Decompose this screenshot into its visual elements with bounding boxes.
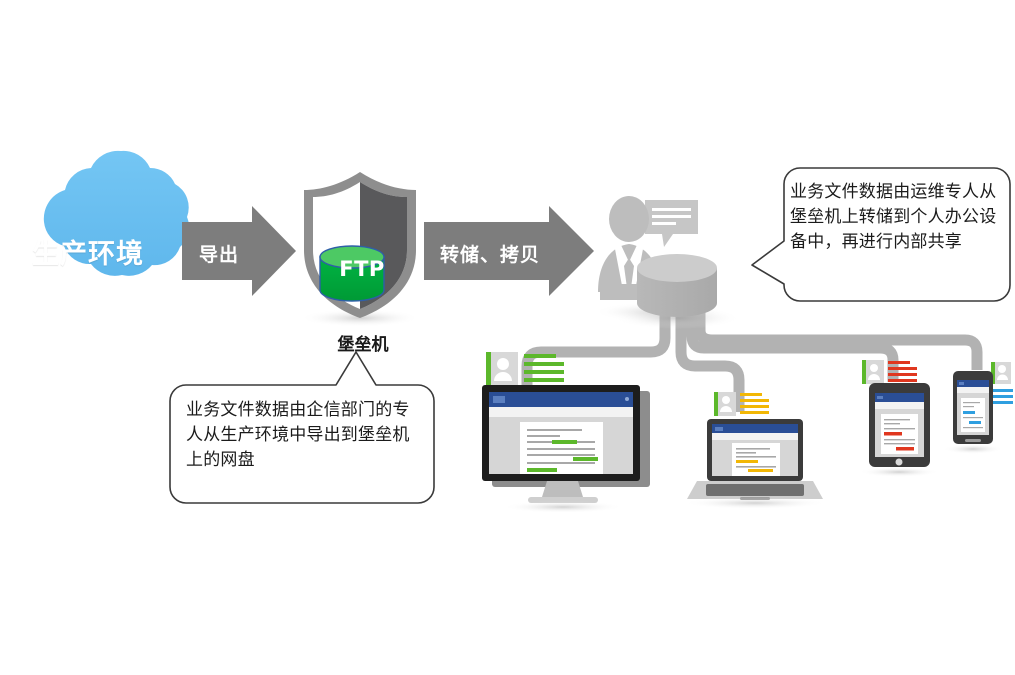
- callout-right-text: 业务文件数据由运维专人从堡垒机上转储到个人办公设备中，再进行内部共享: [790, 180, 1002, 255]
- diagram-graphics: [0, 0, 1015, 675]
- cloud-label: 生产环境: [8, 232, 168, 271]
- bastion-caption: 堡垒机: [293, 330, 433, 355]
- tablet: [859, 360, 939, 477]
- diagram-canvas: 生产环境 导出 转储、拷贝 FTP 堡垒机 业务文件数据由企信部门的专人从生产环…: [0, 0, 1015, 675]
- arrow-transfer-copy-label: 转储、拷贝: [440, 240, 540, 267]
- callout-left-text: 业务文件数据由企信部门的专人从生产环境中导出到堡垒机上的网盘: [186, 398, 416, 473]
- smartphone: [943, 362, 1013, 454]
- desktop-monitor: [482, 352, 650, 513]
- user-card-icon: [991, 362, 1013, 404]
- laptop: [683, 392, 827, 509]
- ftp-label: FTP: [330, 257, 394, 281]
- arrow-export-label: 导出: [199, 240, 239, 267]
